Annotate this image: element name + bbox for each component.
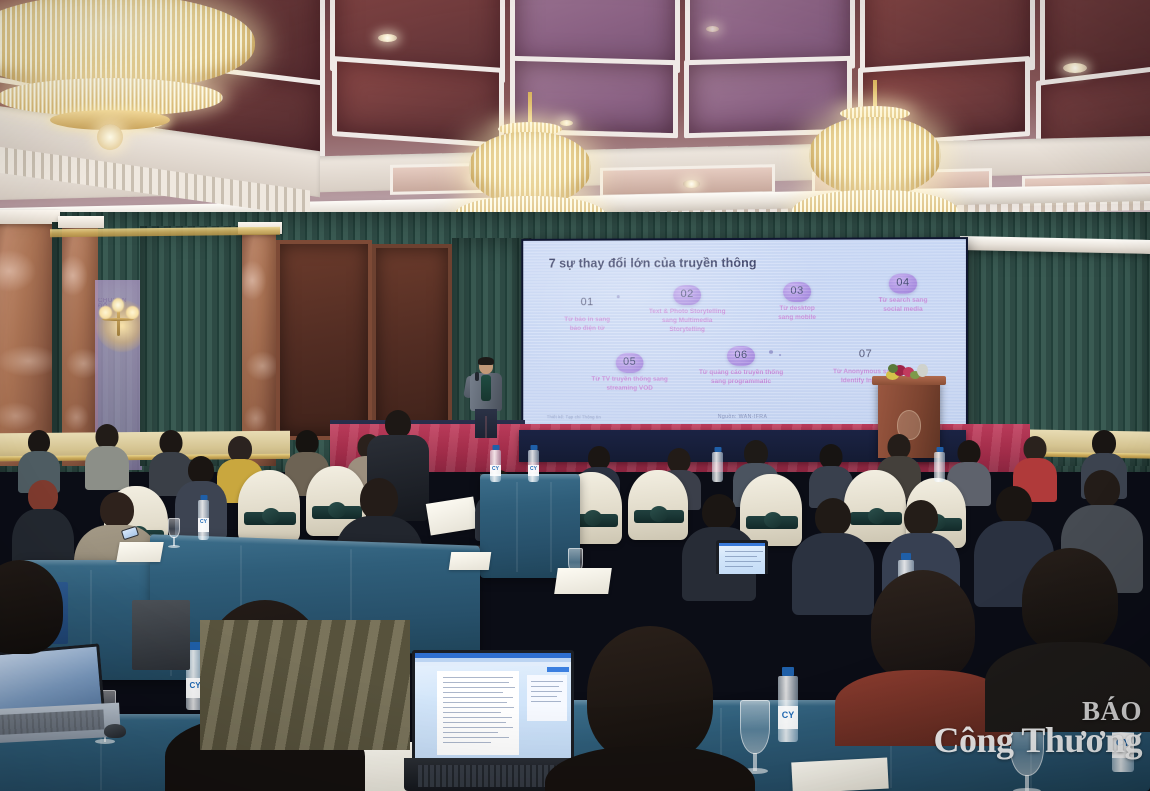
slide-item-02: 02 Text & Photo Storytelling sang Multim… xyxy=(630,284,745,334)
slide-item-number: 07 xyxy=(852,345,880,365)
bottle-brand-label: CY xyxy=(778,706,798,728)
foreground-attendee xyxy=(1000,548,1140,718)
pillar-capital xyxy=(58,216,104,228)
slide-item-05: 05 Từ TV truyền thống sang streaming VOD xyxy=(574,352,685,394)
flower-arrangement xyxy=(884,362,930,382)
audience-person xyxy=(88,424,126,486)
notepad xyxy=(116,542,164,562)
sconce-candle-right xyxy=(126,306,139,319)
notepad xyxy=(791,758,888,791)
slide-item-text: Từ TV truyền thống sang streaming VOD xyxy=(574,376,685,394)
water-bottle xyxy=(934,452,945,482)
ballroom-door xyxy=(276,240,372,440)
water-bottle: CY xyxy=(528,450,539,482)
banquet-chair xyxy=(238,470,300,542)
sconce-candle-left xyxy=(99,306,112,319)
held-paper xyxy=(426,496,478,535)
slide-item-number: 01 xyxy=(574,293,601,313)
slide-item-03: 03 Từ desktop sang mobile xyxy=(753,281,841,323)
slide-item-number: 03 xyxy=(783,282,810,302)
foreground-attendee xyxy=(560,626,740,791)
slide-item-04: 04 Từ search sang social media xyxy=(853,272,952,314)
slide-item-text: Từ quảng cáo truyền thống sang programma… xyxy=(679,369,803,387)
slide-footer-credit: Thiết kế: Tạp chí Thông tin xyxy=(547,414,601,419)
slide-item-number: 04 xyxy=(889,274,917,294)
slide-item-text: Từ báo in sang báo điện tử xyxy=(545,316,630,334)
pillar-capital xyxy=(0,210,60,224)
slide-item-text: Từ desktop sang mobile xyxy=(753,305,841,323)
laptop-screen xyxy=(716,540,768,574)
sconce-stem xyxy=(117,308,120,336)
presenter xyxy=(466,358,506,438)
slide-title: 7 sự thay đổi lớn của truyền thông xyxy=(549,256,757,271)
notepad xyxy=(449,552,492,570)
marble-pillar-far-left xyxy=(0,216,54,466)
notepad xyxy=(554,568,612,594)
slide-item-01: 01 Từ báo in sang báo điện tử xyxy=(545,292,630,333)
conference-photo-scene: CHUYỂN ĐỔI SỐ 7 sự thay đổi lớn của truy… xyxy=(0,0,1150,791)
foreground-attendee xyxy=(0,560,80,690)
laptop-keyboard-base xyxy=(0,703,121,744)
foreground-attendee xyxy=(848,570,998,730)
water-bottle: CY xyxy=(778,676,798,742)
bottle-brand-label: CY xyxy=(528,465,539,476)
microphone xyxy=(475,372,479,381)
slide-item-text: Từ search sang social media xyxy=(853,297,952,315)
banquet-table-center xyxy=(480,474,580,578)
chandelier-large-left xyxy=(0,0,260,160)
slide-item-number: 05 xyxy=(616,353,643,373)
water-bottle: CY xyxy=(198,500,209,540)
slide-item-number: 06 xyxy=(727,346,754,366)
slide-item-text: Text & Photo Storytelling sang Multimedi… xyxy=(630,308,745,334)
computer-mouse xyxy=(104,724,126,738)
wine-glass xyxy=(740,700,770,754)
carpet-patch xyxy=(200,620,410,750)
laptop-screen xyxy=(412,650,574,760)
banquet-chair xyxy=(628,470,688,540)
slide-footer-source: Nguồn: WAN-IFRA xyxy=(718,414,768,420)
bottle-brand-label: CY xyxy=(490,465,501,476)
water-bottle xyxy=(712,452,723,482)
bottle-brand-label: CY xyxy=(1112,733,1134,757)
presenter-hair xyxy=(478,357,494,365)
water-bottle: CY xyxy=(490,450,501,482)
slide-item-06: 06 Từ quảng cáo truyền thống sang progra… xyxy=(679,345,803,387)
bottle-brand-label: CY xyxy=(198,518,209,532)
wine-glass xyxy=(168,518,180,538)
sconce-candle-center xyxy=(112,298,124,312)
presenter-shirt xyxy=(481,375,491,401)
slide-item-number: 02 xyxy=(674,285,701,305)
